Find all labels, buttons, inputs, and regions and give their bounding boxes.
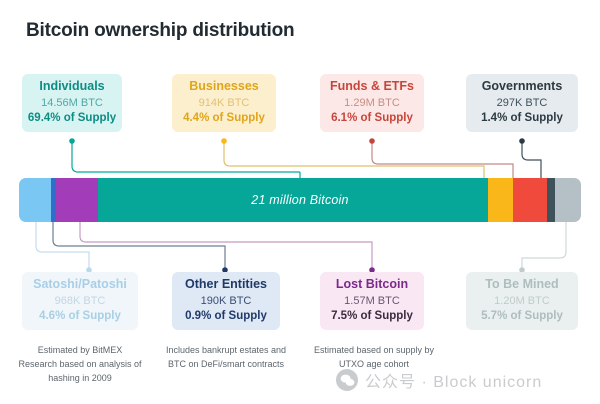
card-btc: 1.29M BTC (344, 95, 400, 112)
card-percent: 4.4% of Supply (183, 111, 265, 127)
card-percent: 5.7% of Supply (481, 309, 563, 325)
card-funds-etfs[interactable]: Funds & ETFs 1.29M BTC 6.1% of Supply (320, 74, 424, 132)
infographic-canvas: Bitcoin ownership distribution Individua… (0, 0, 600, 404)
watermark: 公众号 · Block unicorn (336, 368, 542, 392)
card-title: Governments (482, 79, 563, 95)
bar-segment-individuals (98, 178, 488, 222)
card-title: To Be Mined (485, 277, 558, 293)
card-btc: 14.56M BTC (41, 95, 103, 112)
bar-segment-governments (547, 178, 555, 222)
card-lost-bitcoin[interactable]: Lost Bitcoin 1.57M BTC 7.5% of Supply (320, 272, 424, 330)
wechat-icon (336, 369, 358, 391)
card-to-be-mined[interactable]: To Be Mined 1.20M BTC 5.7% of Supply (466, 272, 578, 330)
card-governments[interactable]: Governments 297K BTC 1.4% of Supply (466, 74, 578, 132)
card-percent: 6.1% of Supply (331, 111, 413, 127)
bar-segment-funds_etfs (513, 178, 547, 222)
card-btc: 914K BTC (199, 95, 250, 112)
card-title: Other Entities (185, 277, 267, 293)
card-percent: 69.4% of Supply (28, 111, 116, 127)
card-btc: 968K BTC (55, 293, 106, 310)
card-percent: 1.4% of Supply (481, 111, 563, 127)
card-individuals[interactable]: Individuals 14.56M BTC 69.4% of Supply (22, 74, 122, 132)
bar-segment-to_be_mined (19, 178, 51, 222)
card-title: Lost Bitcoin (336, 277, 408, 293)
card-title: Individuals (39, 79, 104, 95)
card-businesses[interactable]: Businesses 914K BTC 4.4% of Supply (172, 74, 276, 132)
card-title: Businesses (189, 79, 258, 95)
card-satoshi-patoshi[interactable]: Satoshi/Patoshi 968K BTC 4.6% of Supply (22, 272, 138, 330)
card-btc: 1.57M BTC (344, 293, 400, 310)
card-percent: 7.5% of Supply (331, 309, 413, 325)
card-btc: 190K BTC (201, 293, 252, 310)
supply-bar (19, 178, 581, 222)
footnote-satoshi: Estimated by BitMEX Research based on an… (18, 344, 142, 386)
card-percent: 4.6% of Supply (39, 309, 121, 325)
card-title: Satoshi/Patoshi (33, 277, 127, 293)
watermark-text: 公众号 · Block unicorn (365, 368, 542, 392)
page-title: Bitcoin ownership distribution (26, 20, 294, 42)
card-btc: 1.20M BTC (494, 293, 550, 310)
card-percent: 0.9% of Supply (185, 309, 267, 325)
bar-segment-satoshi (555, 178, 581, 222)
card-other-entities[interactable]: Other Entities 190K BTC 0.9% of Supply (172, 272, 280, 330)
card-title: Funds & ETFs (330, 79, 414, 95)
footnote-other-entities: Includes bankrupt estates and BTC on DeF… (164, 344, 288, 372)
card-btc: 297K BTC (497, 95, 548, 112)
bar-segment-lost_bitcoin (56, 178, 98, 222)
bar-segment-businesses (488, 178, 513, 222)
